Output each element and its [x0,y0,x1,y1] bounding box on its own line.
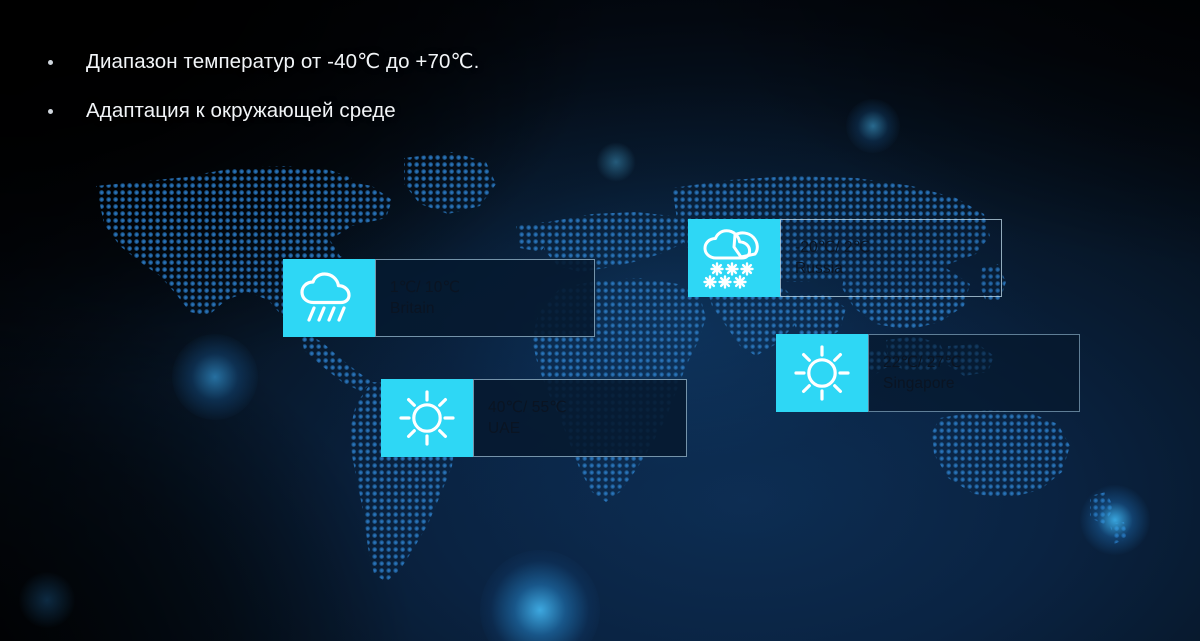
sun-icon [381,379,473,457]
bullet-marker-icon [48,60,53,65]
snow-cloud-icon [688,219,780,297]
location-label: UAE [488,419,686,439]
weather-card-panel: 22℃/ 27℃ Singapore [868,334,1080,412]
bullet-text: Диапазон температур от -40℃ до +70℃. [86,48,479,76]
weather-card-panel: 1℃/ 10℃ Britain [375,259,595,337]
weather-card-panel: -20℃/ 2℃ Russia [780,219,1002,297]
location-label: Russia [795,259,1001,279]
temperature-label: 40℃/ 55℃ [488,398,686,418]
bullet-text: Адаптация к окружающей среде [86,97,396,125]
bullet-list: Диапазон температур от -40℃ до +70℃. Ада… [48,48,688,146]
temperature-label: 1℃/ 10℃ [390,278,594,298]
location-label: Singapore [883,374,1079,394]
rain-cloud-icon [283,259,375,337]
bullet-item-environment-adaptation: Адаптация к окружающей среде [48,97,688,125]
bullet-item-temperature-range: Диапазон температур от -40℃ до +70℃. [48,48,688,76]
temperature-label: 22℃/ 27℃ [883,353,1079,373]
slide-canvas: Диапазон температур от -40℃ до +70℃. Ада… [0,0,1200,641]
sun-icon [776,334,868,412]
temperature-label: -20℃/ 2℃ [795,238,1001,258]
location-label: Britain [390,299,594,319]
bullet-marker-icon [48,109,53,114]
weather-card-panel: 40℃/ 55℃ UAE [473,379,687,457]
